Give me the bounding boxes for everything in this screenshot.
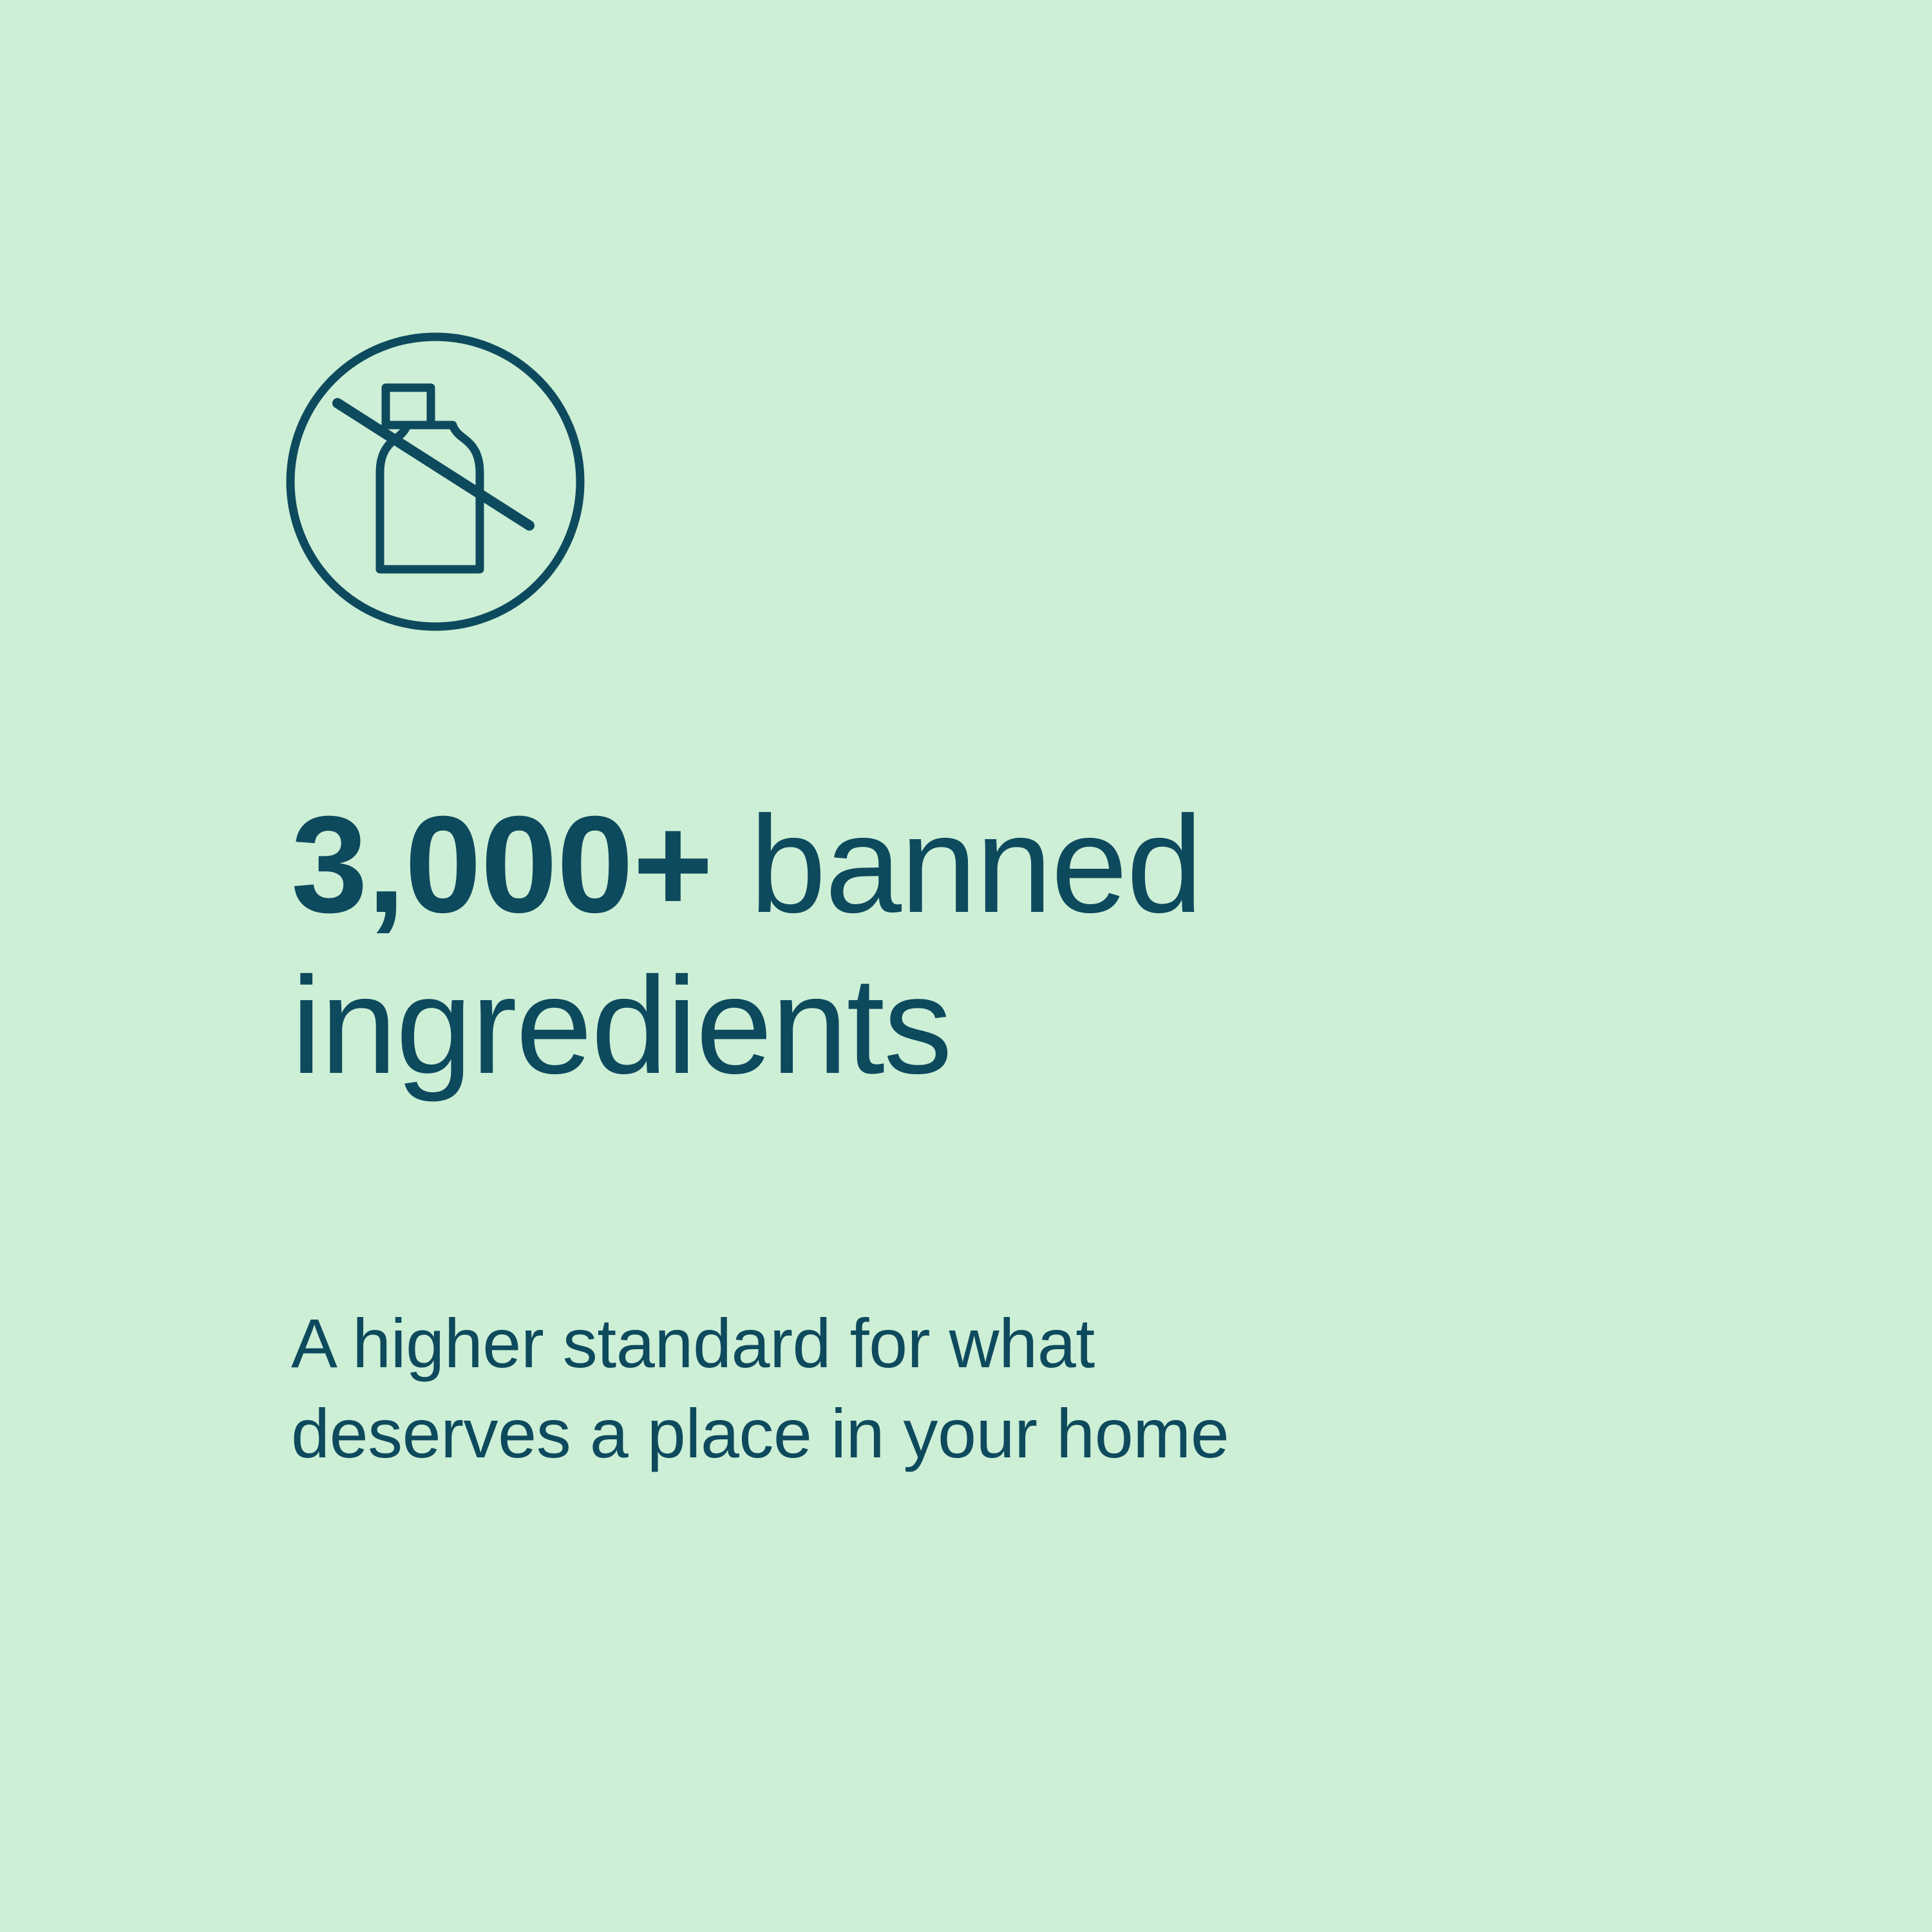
stat-number: 3,000+	[291, 788, 713, 942]
no-bottle-icon	[286, 332, 585, 631]
subtitle-line-2: deserves a place in your home	[291, 1388, 1618, 1479]
subtitle-line-1: A higher standard for what	[291, 1298, 1618, 1388]
bottle-body	[380, 425, 480, 569]
page-title: 3,000+ banned ingredients	[291, 784, 1656, 1107]
prohibition-circle	[290, 337, 580, 627]
no-bottle-icon-svg	[286, 332, 585, 631]
bottle-cap	[386, 388, 431, 425]
banned-ingredients-card: 3,000+ banned ingredients A higher stand…	[0, 0, 1932, 1932]
page-subtitle: A higher standard for what deserves a pl…	[291, 1298, 1618, 1479]
